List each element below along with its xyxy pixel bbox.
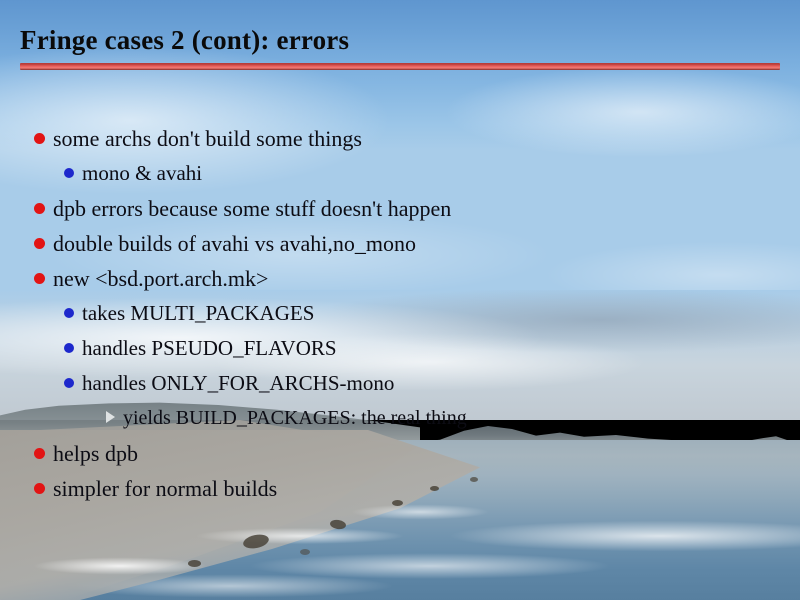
blue-disc-bullet-icon [64,343,74,353]
bullet-text: new <bsd.port.arch.mk> [53,268,268,290]
red-disc-bullet-icon [34,483,45,494]
bullet-item: helps dpb [0,443,800,478]
red-disc-bullet-icon [34,203,45,214]
beach-debris [300,549,310,555]
bullet-item: mono & avahi [0,163,800,198]
bullet-item: some archs don't build some things [0,128,800,163]
bullet-text: double builds of avahi vs avahi,no_mono [53,233,416,255]
red-disc-bullet-icon [34,238,45,249]
bullet-text: some archs don't build some things [53,128,362,150]
bullet-text: handles PSEUDO_FLAVORS [82,338,337,359]
blue-disc-bullet-icon [64,168,74,178]
bullet-text: helps dpb [53,443,138,465]
bullet-text: handles ONLY_FOR_ARCHS-mono [82,373,394,394]
blue-disc-bullet-icon [64,308,74,318]
bullet-item: new <bsd.port.arch.mk> [0,268,800,303]
bullet-item: yields BUILD_PACKAGES: the real thing [0,408,800,443]
red-disc-bullet-icon [34,133,45,144]
bullet-text: mono & avahi [82,163,202,184]
slide-title: Fringe cases 2 (cont): errors [20,25,349,56]
bullet-text: yields BUILD_PACKAGES: the real thing [123,408,467,428]
bullet-list: some archs don't build some thingsmono &… [0,128,800,513]
bullet-text: simpler for normal builds [53,478,277,500]
bullet-item: takes MULTI_PACKAGES [0,303,800,338]
presentation-slide: Fringe cases 2 (cont): errors some archs… [0,0,800,600]
bullet-item: double builds of avahi vs avahi,no_mono [0,233,800,268]
bullet-item: handles ONLY_FOR_ARCHS-mono [0,373,800,408]
bullet-item: simpler for normal builds [0,478,800,513]
bullet-item: dpb errors because some stuff doesn't ha… [0,198,800,233]
title-underline-rule [20,63,780,70]
bullet-text: dpb errors because some stuff doesn't ha… [53,198,451,220]
bullet-item: handles PSEUDO_FLAVORS [0,338,800,373]
red-disc-bullet-icon [34,273,45,284]
beach-debris [188,560,201,567]
blue-disc-bullet-icon [64,378,74,388]
red-disc-bullet-icon [34,448,45,459]
white-triangle-bullet-icon [106,411,115,423]
bullet-text: takes MULTI_PACKAGES [82,303,314,324]
